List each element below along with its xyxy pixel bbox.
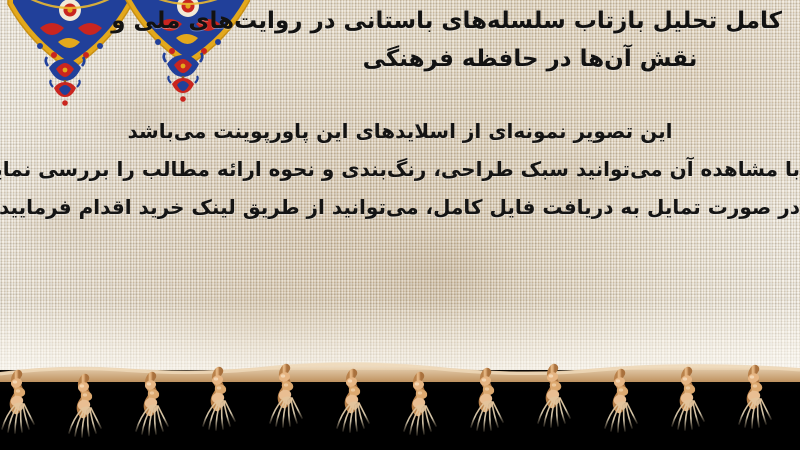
slide-title-line-2: نقش آن‌ها در حافظه فرهنگی [222,40,782,78]
slide-body-text: این تصویر نمونه‌ای از اسلایدهای این پاور… [0,112,800,226]
slide-title: کامل تحلیل بازتاب سلسله‌های باستانی در ر… [222,2,782,78]
body-line-1: این تصویر نمونه‌ای از اسلایدهای این پاور… [0,112,800,150]
body-line-2: با مشاهده آن می‌توانید سبک طراحی، رنگ‌بن… [0,150,800,188]
presentation-slide: کامل تحلیل بازتاب سلسله‌های باستانی در ر… [0,0,800,450]
carpet-fringe-border [0,352,800,450]
body-line-3: در صورت تمایل به دریافت فایل کامل، می‌تو… [0,188,800,226]
slide-title-line-1: کامل تحلیل بازتاب سلسله‌های باستانی در ر… [222,2,782,40]
